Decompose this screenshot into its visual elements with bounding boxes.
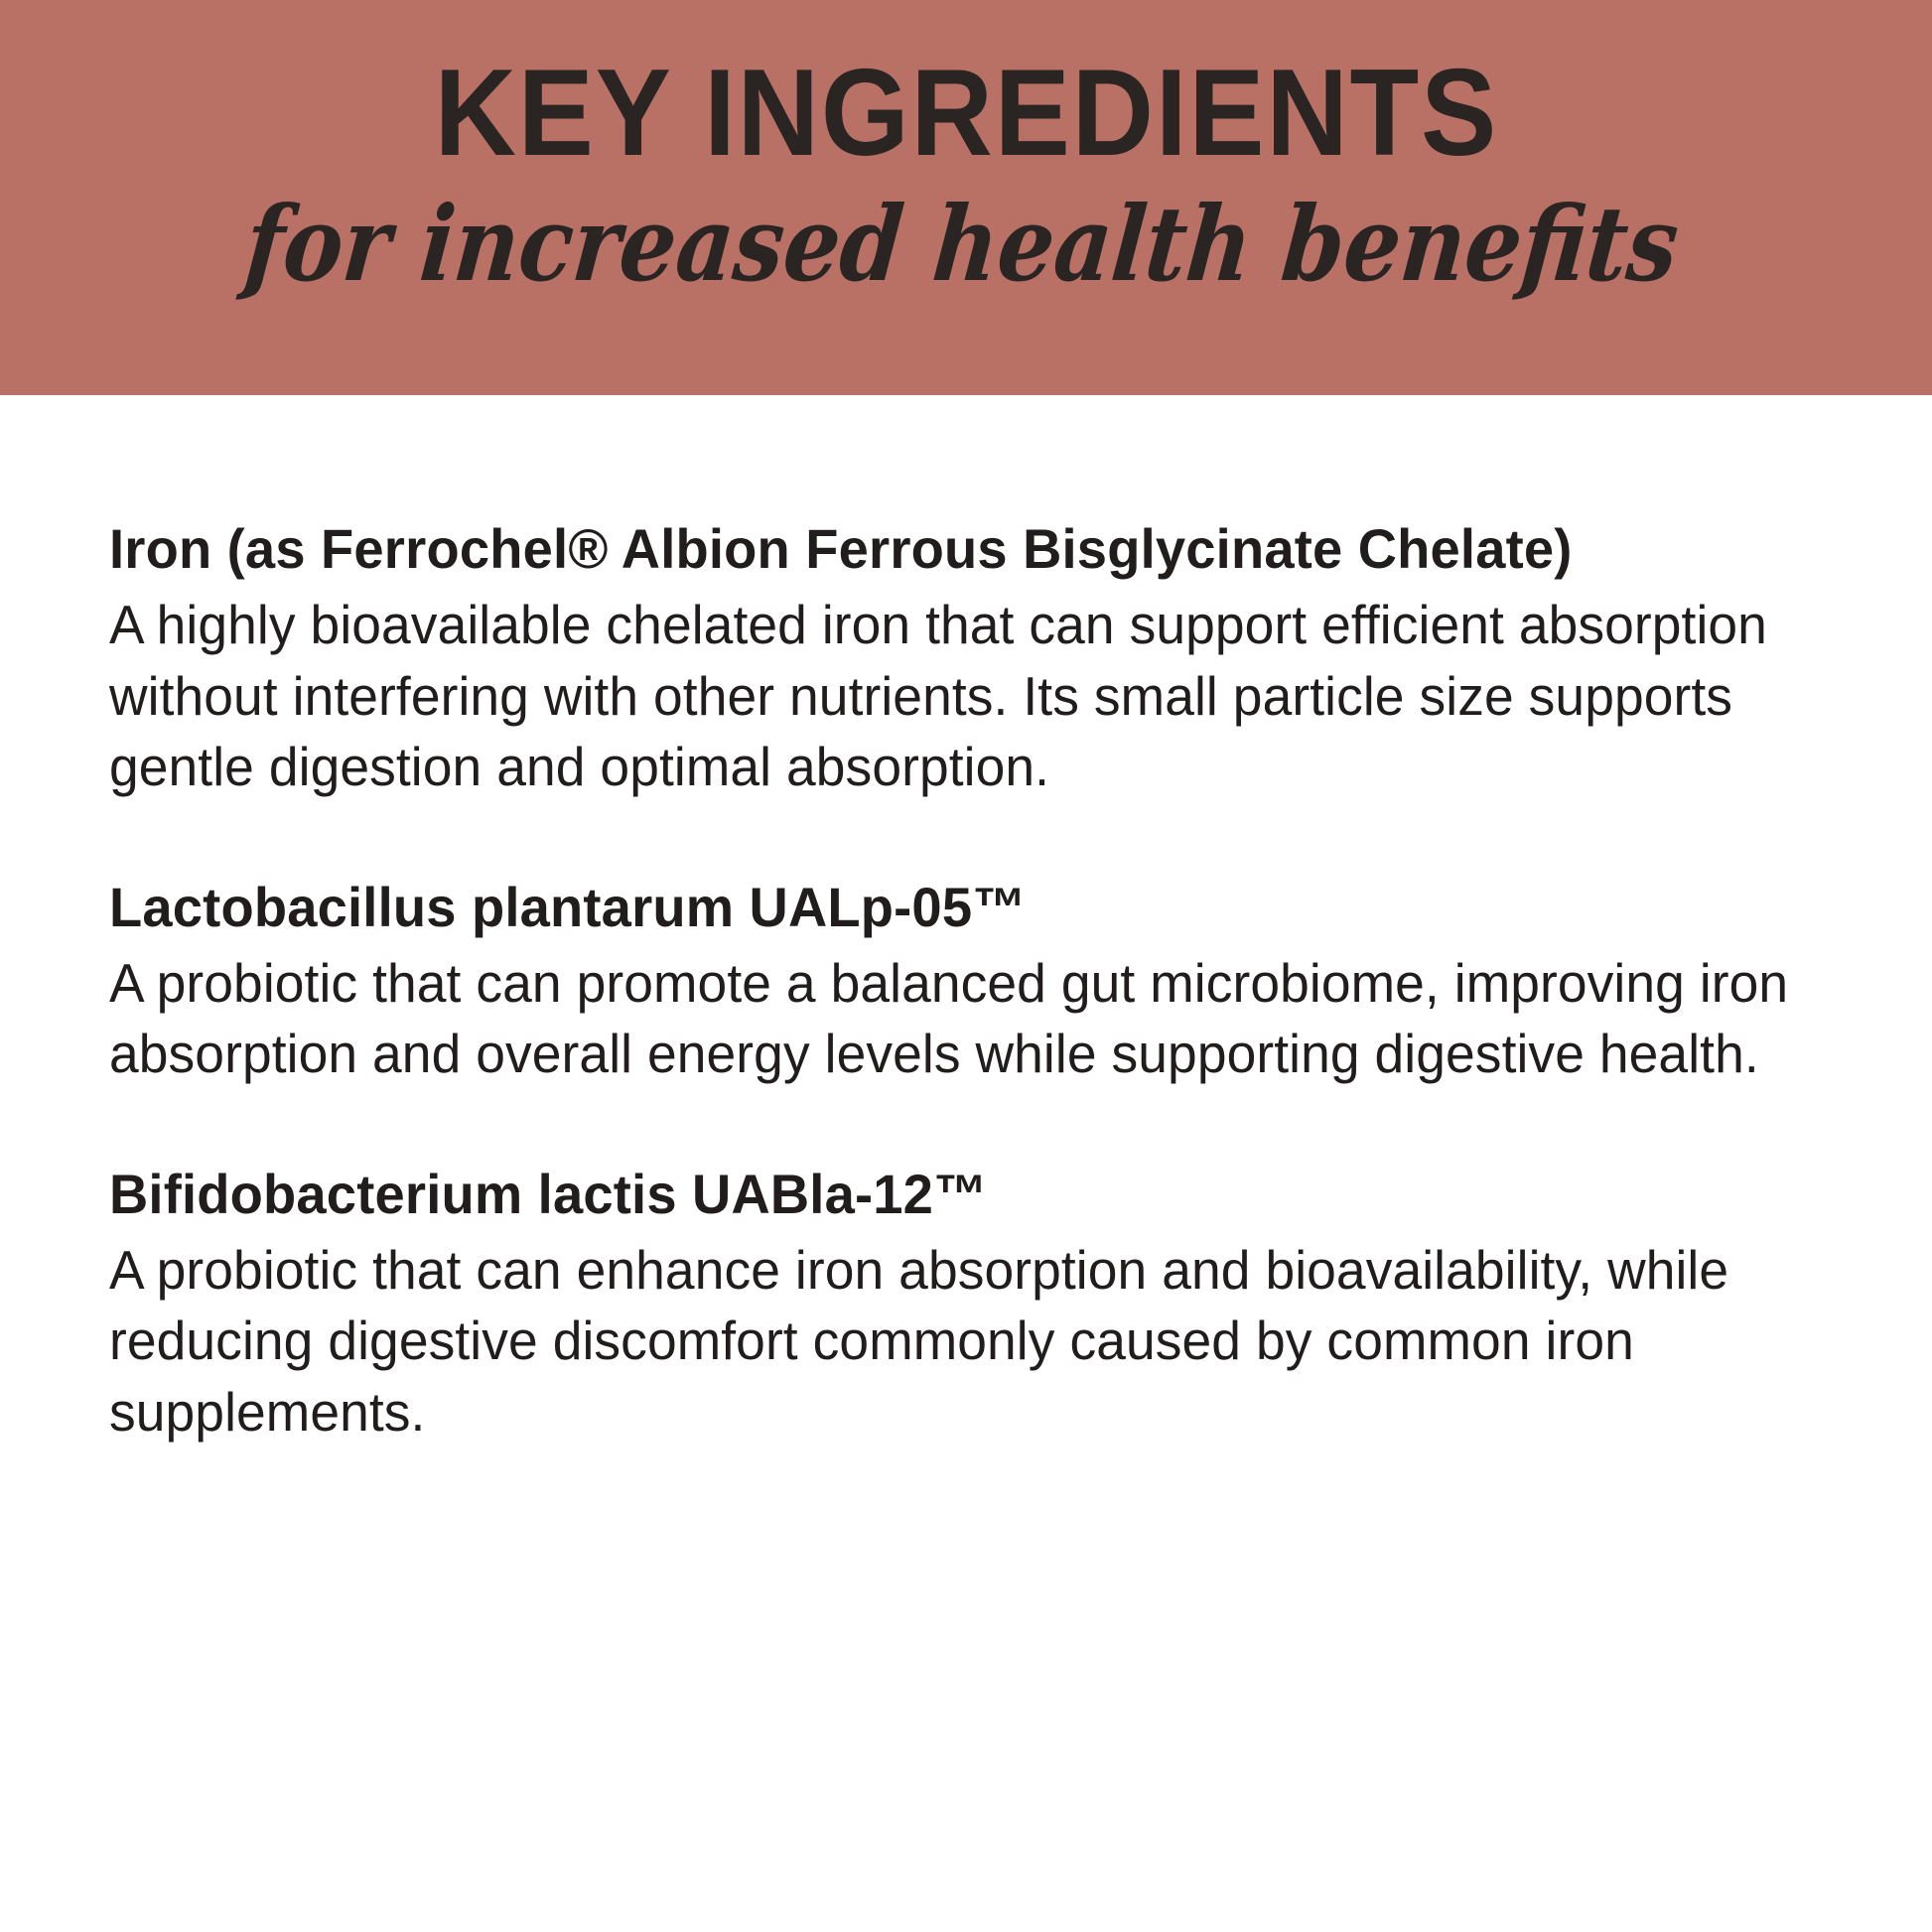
ingredient-name: Bifidobacterium lactis UABla-12™	[109, 1162, 1804, 1227]
header-band: KEY INGREDIENTS for increased health ben…	[0, 0, 1932, 395]
page-title: KEY INGREDIENTS	[434, 52, 1497, 175]
key-ingredients-page: KEY INGREDIENTS for increased health ben…	[0, 0, 1932, 1932]
ingredient-item-lactobacillus-plantarum: Lactobacillus plantarum UALp-05™ A probi…	[109, 875, 1857, 1090]
ingredient-item-iron: Iron (as Ferrochel® Albion Ferrous Bisgl…	[109, 516, 1857, 803]
ingredients-list: Iron (as Ferrochel® Albion Ferrous Bisgl…	[109, 516, 1857, 1448]
ingredient-description: A probiotic that can enhance iron absorp…	[109, 1235, 1804, 1449]
ingredient-name: Iron (as Ferrochel® Albion Ferrous Bisgl…	[109, 516, 1804, 582]
ingredient-description: A probiotic that can promote a balanced …	[109, 948, 1804, 1090]
ingredient-item-bifidobacterium-lactis: Bifidobacterium lactis UABla-12™ A probi…	[109, 1162, 1857, 1449]
ingredient-name: Lactobacillus plantarum UALp-05™	[109, 875, 1804, 940]
ingredient-description: A highly bioavailable chelated iron that…	[109, 590, 1804, 803]
page-subtitle: for increased health benefits	[241, 193, 1683, 296]
